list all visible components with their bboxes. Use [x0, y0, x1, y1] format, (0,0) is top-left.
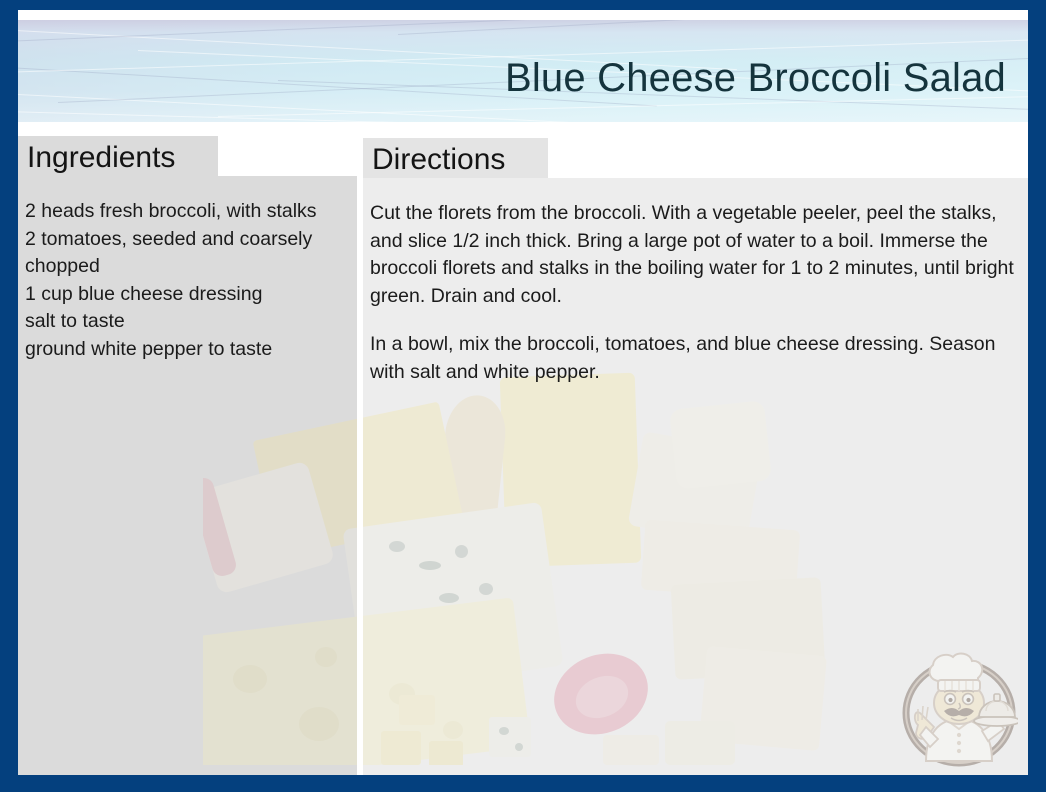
directions-heading: Directions	[372, 143, 505, 177]
ingredients-list: 2 heads fresh broccoli, with stalks 2 to…	[25, 198, 361, 363]
card-inner-surface: Blue Cheese Broccoli Salad	[18, 10, 1028, 775]
assorted-cheeses-photo	[203, 365, 843, 765]
directions-body: Cut the florets from the broccoli. With …	[370, 200, 1028, 407]
ingredients-heading: Ingredients	[27, 141, 175, 175]
chef-mascot-logo	[900, 647, 1018, 767]
header-banner: Blue Cheese Broccoli Salad	[18, 20, 1028, 122]
recipe-card: Blue Cheese Broccoli Salad	[0, 0, 1046, 792]
directions-paragraph: In a bowl, mix the broccoli, tomatoes, a…	[370, 331, 1028, 386]
recipe-title: Blue Cheese Broccoli Salad	[505, 54, 1006, 102]
directions-paragraph: Cut the florets from the broccoli. With …	[370, 200, 1028, 310]
